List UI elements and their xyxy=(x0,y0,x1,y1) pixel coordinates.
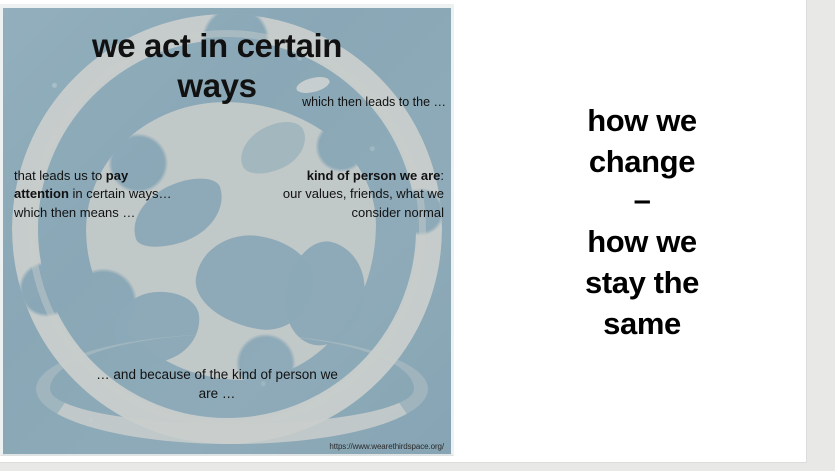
title-line-5: same xyxy=(603,306,681,341)
continent-shape-3 xyxy=(111,288,204,367)
title-dash: – xyxy=(512,182,772,221)
left-line2-bold: attention xyxy=(14,186,69,201)
image-caption-bottom: … and because of the kind of person we a… xyxy=(92,365,342,403)
left-line1-bold: pay xyxy=(106,168,128,183)
image-caption-right: kind of person we are: our values, frien… xyxy=(232,167,444,222)
continent-shape-2 xyxy=(190,227,321,336)
screenshot-stage: we act in certain ways which then leads … xyxy=(0,0,835,471)
image-source-url[interactable]: https://www.wearethirdspace.org/ xyxy=(244,442,444,451)
title-line-4: stay the xyxy=(585,265,699,300)
slide-canvas[interactable]: we act in certain ways which then leads … xyxy=(0,0,806,462)
image-caption-left: that leads us to pay attention in certai… xyxy=(14,167,229,222)
title-line-3: how we xyxy=(587,224,697,259)
title-line-1: how we xyxy=(587,103,697,138)
left-line2-normal: in certain ways… xyxy=(69,186,172,201)
left-line1-normal: that leads us to xyxy=(14,168,106,183)
right-line2: our values, friends, what we xyxy=(283,186,444,201)
right-line1-bold: kind of person we are xyxy=(307,168,441,183)
grunge-globe-image[interactable]: we act in certain ways which then leads … xyxy=(0,4,454,456)
left-line3: which then means … xyxy=(14,205,135,220)
title-line-2: change xyxy=(589,144,695,179)
globe-silhouette xyxy=(86,102,376,380)
right-line3: consider normal xyxy=(352,205,445,220)
slide-title: how we change – how we stay the same xyxy=(512,100,772,345)
continent-shape-4 xyxy=(275,234,376,354)
right-line1-colon: : xyxy=(440,168,444,183)
image-caption-leads-to: which then leads to the … xyxy=(300,94,446,111)
